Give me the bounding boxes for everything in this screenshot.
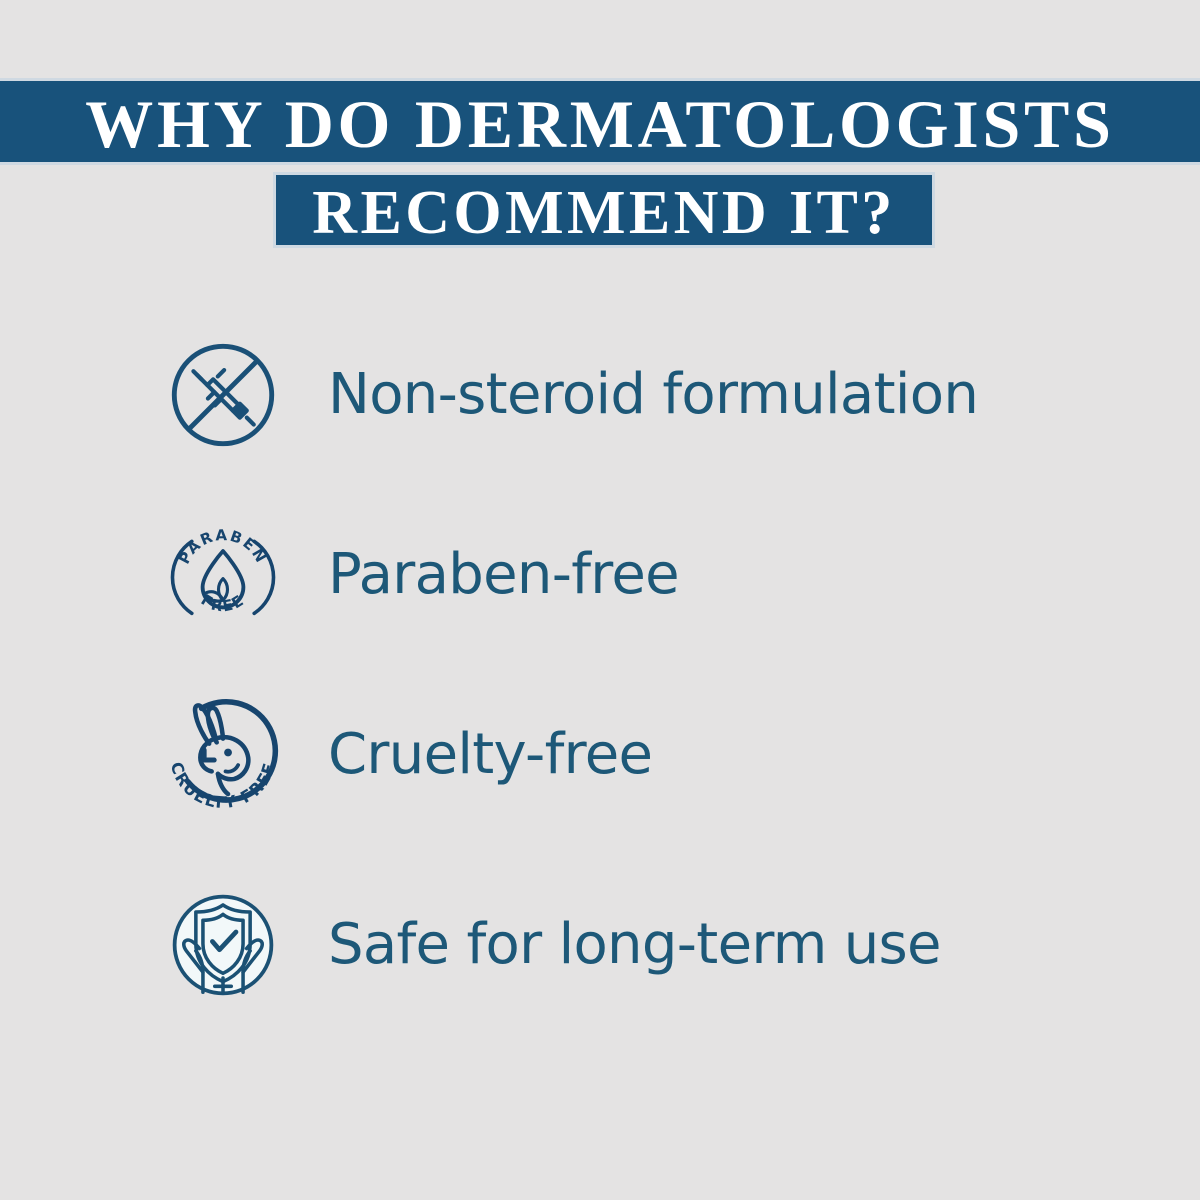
shield-in-hands-icon (160, 882, 286, 1008)
page-title-line-1: WHY DO DERMATOLOGISTS (0, 78, 1200, 165)
paraben-free-icon: PARABEN FREE (160, 512, 286, 638)
svg-text:FREE: FREE (198, 591, 248, 616)
list-item-label: Paraben-free (328, 547, 679, 603)
list-item-label: Safe for long-term use (328, 917, 941, 973)
cruelty-free-icon: CRUELTY FREE (160, 692, 286, 818)
paraben-badge-top-text: PARABEN (175, 526, 271, 567)
paraben-badge-bottom-text: FREE (198, 591, 248, 616)
list-item: CRUELTY FREE Cruelty-free (160, 690, 652, 820)
list-item-label: Cruelty-free (328, 727, 652, 783)
list-item-label: Non-steroid formulation (328, 367, 978, 423)
svg-text:PARABEN: PARABEN (175, 526, 271, 567)
page-title-line-2: RECOMMEND IT? (273, 172, 935, 248)
list-item: Non-steroid formulation (160, 330, 978, 460)
list-item: PARABEN FREE Paraben-free (160, 510, 679, 640)
list-item: Safe for long-term use (160, 880, 941, 1010)
no-syringe-icon (160, 332, 286, 458)
